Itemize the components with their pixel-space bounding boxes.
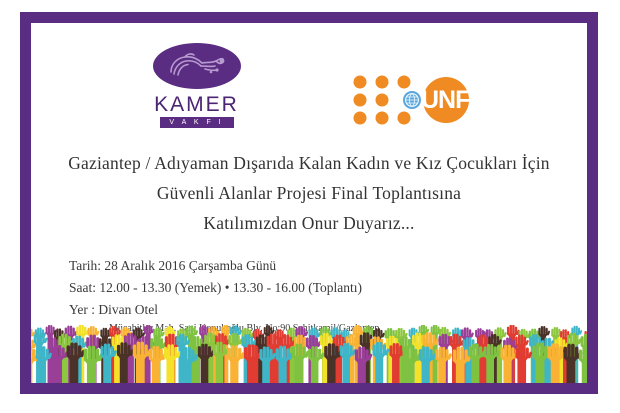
- headline-line-1: Gaziantep / Adıyaman Dışarıda Kalan Kadı…: [31, 148, 587, 178]
- event-venue: Yer : Divan Otel: [69, 299, 379, 321]
- event-date: Tarih: 28 Aralık 2016 Çarşamba Günü: [69, 255, 379, 277]
- headline-line-2: Güvenli Alanlar Projesi Final Toplantısı…: [31, 178, 587, 208]
- raised-hands-illustration: [31, 325, 587, 383]
- unfpa-logo: UNFPA: [351, 73, 501, 125]
- unfpa-wordmark: UNFPA: [421, 86, 500, 114]
- headline-line-3: Katılımızdan Onur Duyarız...: [31, 208, 587, 238]
- kamer-lion-emblem-icon: [153, 43, 241, 89]
- logo-row: KAMER V A K F I: [31, 43, 587, 139]
- kamer-wordmark: KAMER: [144, 94, 249, 115]
- poster-frame: KAMER V A K F I: [20, 12, 598, 394]
- kamer-subtitle: V A K F I: [160, 117, 234, 128]
- invitation-poster: KAMER V A K F I: [0, 0, 620, 413]
- kamer-logo: KAMER V A K F I: [144, 43, 249, 128]
- un-globe-emblem-icon: [403, 91, 421, 109]
- headline-block: Gaziantep / Adıyaman Dışarıda Kalan Kadı…: [31, 148, 587, 238]
- poster-inner: KAMER V A K F I: [31, 23, 587, 383]
- event-time: Saat: 12.00 - 13.30 (Yemek) • 13.30 - 16…: [69, 277, 379, 299]
